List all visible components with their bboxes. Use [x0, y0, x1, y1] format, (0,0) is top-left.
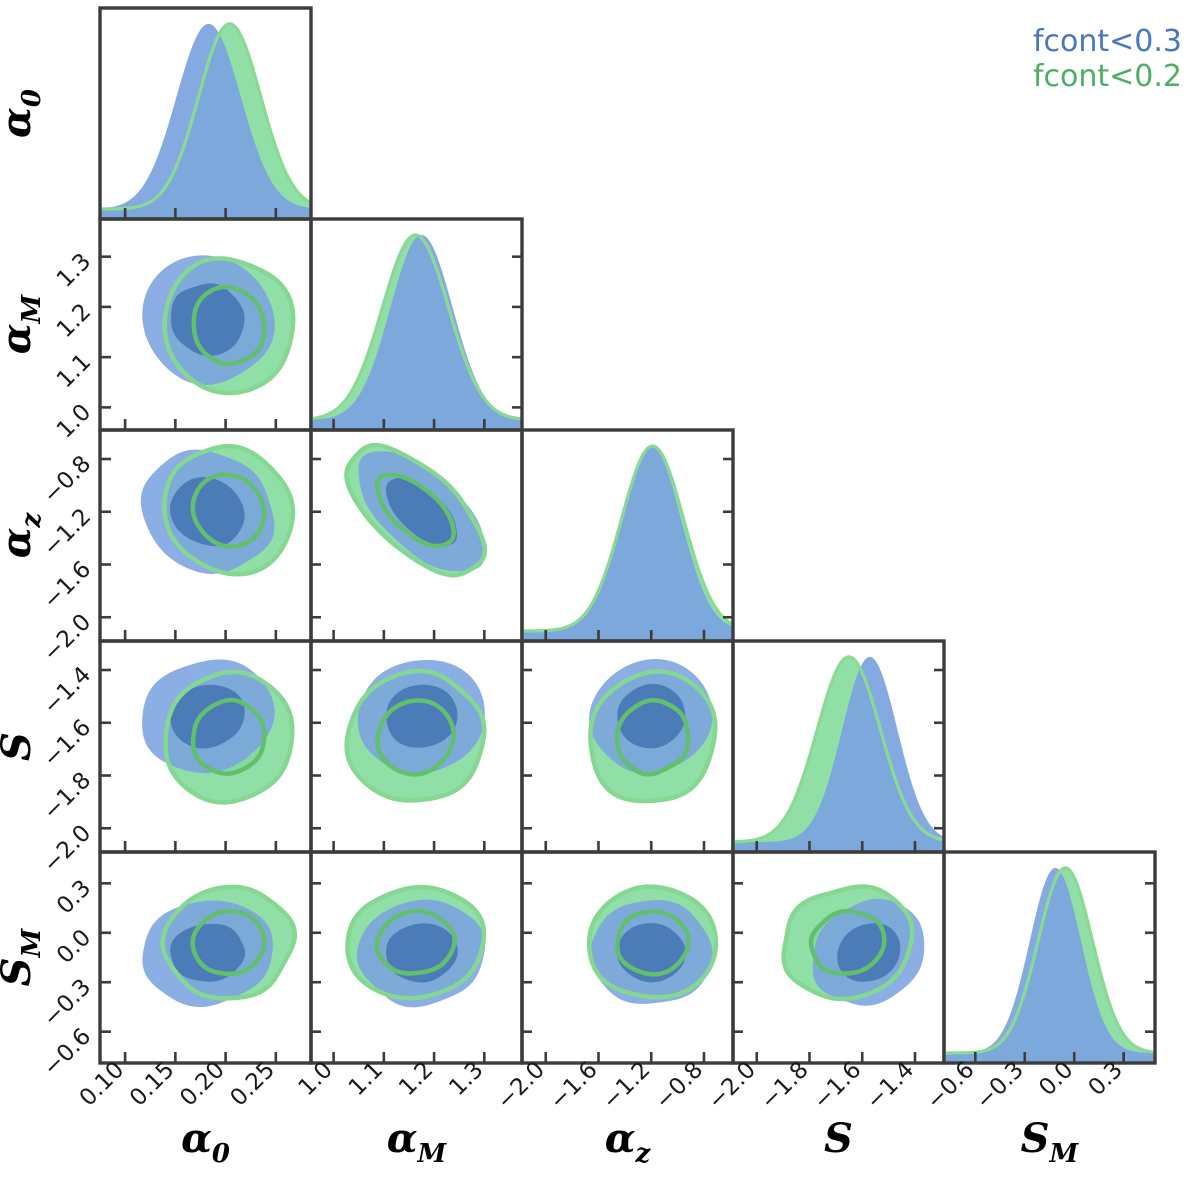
panel-S_M-S_M — [944, 868, 1155, 1063]
xticklabel-alpha_z-3: −0.8 — [650, 1057, 708, 1115]
yticklabel-S_M-2: 0.0 — [52, 925, 96, 969]
yticklabel-alpha_z-2: −1.2 — [38, 504, 96, 562]
xaxis-label-alpha_M: αM — [387, 1115, 448, 1169]
xaxis-label-S: S — [824, 1115, 853, 1162]
yticklabel-S_M-0: −0.6 — [38, 1024, 96, 1082]
legend: fcont<0.3 fcont<0.2 — [1033, 24, 1182, 95]
panel-alpha_M-alpha_M — [311, 235, 522, 430]
yticklabel-alpha_M-3: 1.3 — [52, 249, 96, 293]
xaxis-label-alpha_z: αz — [605, 1115, 652, 1169]
legend-entry-fcont-03: fcont<0.3 — [1033, 24, 1182, 59]
yticklabel-S-3: −1.4 — [38, 662, 96, 720]
corner-plot-figure: 0.100.150.200.251.01.11.21.3−2.0−1.6−1.2… — [0, 0, 1200, 1179]
yticklabel-S_M-3: 0.3 — [52, 875, 96, 919]
panel-alpha_0-S — [142, 659, 292, 802]
xticklabel-alpha_0-0: 0.10 — [75, 1057, 130, 1112]
panel-S-S — [733, 657, 944, 852]
xaxis-label-S_M: SM — [1021, 1115, 1080, 1169]
panel-alpha_0-alpha_M — [142, 255, 293, 393]
yticklabel-alpha_z-1: −1.6 — [38, 556, 96, 614]
yticklabel-alpha_M-0: 1.0 — [52, 399, 96, 443]
yticklabel-alpha_M-1: 1.1 — [52, 349, 96, 393]
xticklabel-S_M-0: −0.6 — [922, 1057, 980, 1115]
panel-S-S_M — [784, 886, 925, 1005]
yaxis-label-alpha_M: αM — [0, 294, 47, 355]
xaxis-label-alpha_0: α0 — [181, 1115, 230, 1169]
yticklabel-alpha_z-3: −0.8 — [38, 451, 96, 509]
panel-alpha_0-alpha_0 — [100, 24, 311, 219]
panel-alpha_M-S — [347, 660, 485, 800]
xticklabel-S-2: −1.6 — [809, 1057, 867, 1115]
yaxis-label-alpha_z: αz — [0, 511, 47, 558]
panel-alpha_M-S_M — [348, 887, 486, 1007]
panel-alpha_z-alpha_z — [522, 446, 733, 641]
xticklabel-alpha_z-0: −2.0 — [492, 1057, 550, 1115]
corner-plot-svg: 0.100.150.200.251.01.11.21.3−2.0−1.6−1.2… — [0, 0, 1200, 1179]
panel-alpha_0-alpha_z — [141, 446, 293, 574]
axis-names: α0αMαzSSMα0αMαzSSM — [0, 89, 1080, 1169]
panel-alpha_M-alpha_z — [346, 445, 485, 575]
yticklabel-S-2: −1.6 — [38, 715, 96, 773]
panel-alpha_0-S_M — [142, 887, 294, 1007]
panel-alpha_z-S_M — [589, 887, 716, 1004]
yticklabel-alpha_M-2: 1.2 — [52, 299, 96, 343]
xticklabel-S-3: −1.4 — [861, 1057, 919, 1115]
panel-grid — [100, 8, 1155, 1063]
yaxis-label-alpha_0: α0 — [0, 89, 47, 138]
xaxis-label-S_M-text: SM — [1021, 1115, 1080, 1169]
yaxis-label-S_M-text: SM — [0, 927, 47, 986]
xaxis-label-S-text: S — [824, 1115, 853, 1162]
legend-entry-fcont-02: fcont<0.2 — [1033, 59, 1182, 94]
yaxis-label-S_M: SM — [0, 927, 47, 986]
yaxis-label-alpha_0-text: α0 — [0, 89, 47, 138]
xaxis-label-alpha_0-text: α0 — [181, 1115, 230, 1169]
kde-fill-blue-alpha_z — [522, 446, 733, 641]
kde-fill-blue-alpha_M — [311, 235, 522, 430]
xticklabel-alpha_z-2: −1.2 — [598, 1057, 656, 1115]
xaxis-label-alpha_z-text: αz — [605, 1115, 652, 1169]
xticklabel-alpha_0-3: 0.25 — [225, 1057, 280, 1112]
xticklabel-alpha_z-1: −1.6 — [545, 1057, 603, 1115]
yaxis-label-S: S — [0, 732, 40, 761]
xticklabel-S-1: −1.8 — [756, 1057, 814, 1115]
xticklabel-S_M-1: −0.3 — [971, 1057, 1029, 1115]
panel-alpha_z-S — [589, 659, 715, 801]
yaxis-label-alpha_M-text: αM — [0, 294, 47, 355]
yaxis-label-alpha_z-text: αz — [0, 511, 47, 558]
yticklabel-S_M-1: −0.3 — [38, 974, 96, 1032]
xaxis-label-alpha_M-text: αM — [387, 1115, 448, 1169]
yticklabel-S-1: −1.8 — [38, 767, 96, 825]
yaxis-label-S-text: S — [0, 732, 40, 761]
xticklabel-alpha_0-2: 0.20 — [175, 1057, 230, 1112]
yticklabel-S-0: −2.0 — [38, 820, 96, 878]
xticklabel-S-0: −2.0 — [703, 1057, 761, 1115]
yticklabel-alpha_z-0: −2.0 — [38, 609, 96, 667]
xticklabel-alpha_0-1: 0.15 — [125, 1057, 180, 1112]
